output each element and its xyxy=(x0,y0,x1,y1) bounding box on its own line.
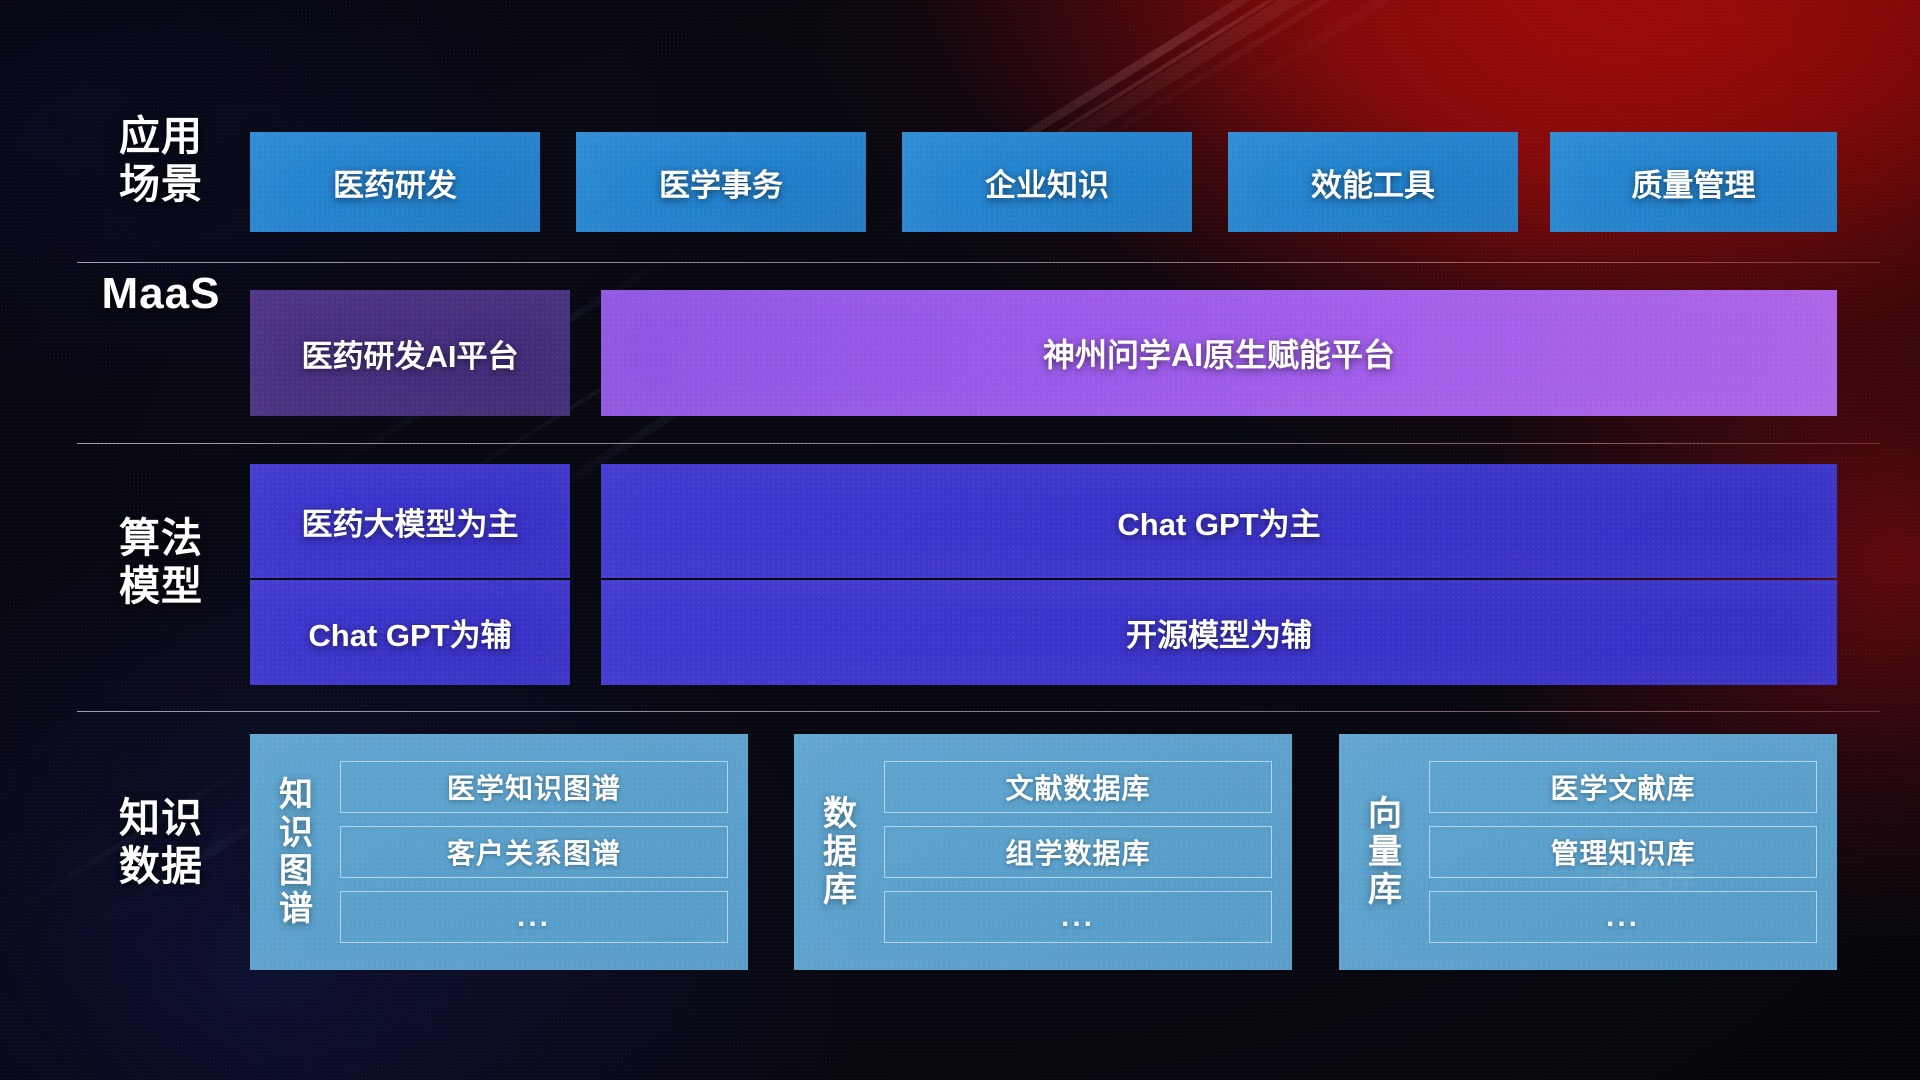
knowledge-item[interactable]: 组学数据库 xyxy=(884,826,1272,878)
knowledge-panel-knowledge-graph[interactable]: 知 识 图 谱 医学知识图谱 客户关系图谱 ... xyxy=(250,734,748,970)
row-label-application: 应用 场景 xyxy=(77,113,245,209)
knowledge-item[interactable]: 医学文献库 xyxy=(1429,761,1817,813)
row-label-algorithm: 算法 模型 xyxy=(77,515,245,611)
knowledge-panel-items: 文献数据库 组学数据库 ... xyxy=(884,761,1272,943)
row-label-line: 数据 xyxy=(77,843,245,891)
knowledge-panel-title: 向 量 库 xyxy=(1357,795,1413,909)
algo-box-label: Chat GPT为主 xyxy=(1117,499,1320,544)
app-box-label: 效能工具 xyxy=(1311,160,1435,205)
knowledge-item[interactable]: 文献数据库 xyxy=(884,761,1272,813)
maas-box-label: 医药研发AI平台 xyxy=(302,331,519,376)
knowledge-panel-database[interactable]: 数 据 库 文献数据库 组学数据库 ... xyxy=(794,734,1292,970)
row-label-line: 知识 xyxy=(77,795,245,843)
title-char: 库 xyxy=(1368,871,1402,909)
app-box-quality-management[interactable]: 质量管理 xyxy=(1550,132,1837,232)
title-char: 知 xyxy=(279,776,313,814)
app-box-enterprise-knowledge[interactable]: 企业知识 xyxy=(902,132,1192,232)
knowledge-item[interactable]: 管理知识库 xyxy=(1429,826,1817,878)
app-box-efficiency-tools[interactable]: 效能工具 xyxy=(1228,132,1518,232)
title-char: 向 xyxy=(1368,795,1402,833)
knowledge-item[interactable]: 客户关系图谱 xyxy=(340,826,728,878)
knowledge-item-more[interactable]: ... xyxy=(884,891,1272,943)
app-box-label: 医学事务 xyxy=(659,160,783,205)
knowledge-item[interactable]: 医学知识图谱 xyxy=(340,761,728,813)
row-label-line: 应用 xyxy=(77,113,245,161)
algo-box-label: 开源模型为辅 xyxy=(1126,610,1312,655)
row-label-line: 模型 xyxy=(77,563,245,611)
row-divider-3 xyxy=(77,711,1880,712)
title-char: 图 xyxy=(279,852,313,890)
title-char: 谱 xyxy=(279,890,313,928)
knowledge-item-more[interactable]: ... xyxy=(1429,891,1817,943)
diagram-canvas: 应用 场景 医药研发 医学事务 企业知识 效能工具 质量管理 MaaS 医药研发… xyxy=(0,0,1920,1080)
knowledge-panel-items: 医学文献库 管理知识库 ... xyxy=(1429,761,1817,943)
title-char: 据 xyxy=(823,833,857,871)
row-divider-2 xyxy=(77,443,1880,444)
row-label-line: 场景 xyxy=(77,161,245,209)
row-label-line: 算法 xyxy=(77,515,245,563)
row-label-knowledge: 知识 数据 xyxy=(77,795,245,891)
maas-box-pharma-ai-platform[interactable]: 医药研发AI平台 xyxy=(250,290,570,416)
knowledge-panel-title: 数 据 库 xyxy=(812,795,868,909)
app-box-label: 质量管理 xyxy=(1632,160,1756,205)
maas-box-label: 神州问学AI原生赋能平台 xyxy=(1043,330,1395,376)
app-box-pharma-rd[interactable]: 医药研发 xyxy=(250,132,540,232)
algo-box-label: Chat GPT为辅 xyxy=(308,610,511,655)
title-char: 库 xyxy=(823,871,857,909)
algo-box-label: 医药大模型为主 xyxy=(302,499,519,544)
row-divider-1 xyxy=(77,262,1880,263)
knowledge-panel-title: 知 识 图 谱 xyxy=(268,776,324,928)
knowledge-panel-items: 医学知识图谱 客户关系图谱 ... xyxy=(340,761,728,943)
app-box-label: 医药研发 xyxy=(333,160,457,205)
algo-box-chatgpt-secondary[interactable]: Chat GPT为辅 xyxy=(250,580,570,685)
algo-box-pharma-llm-primary[interactable]: 医药大模型为主 xyxy=(250,464,570,578)
row-label-line: MaaS xyxy=(77,268,245,319)
title-char: 量 xyxy=(1368,833,1402,871)
algo-box-chatgpt-primary[interactable]: Chat GPT为主 xyxy=(601,464,1837,578)
knowledge-item-more[interactable]: ... xyxy=(340,891,728,943)
row-label-maas: MaaS xyxy=(77,268,245,319)
maas-box-shenzhou-wenxue-platform[interactable]: 神州问学AI原生赋能平台 xyxy=(601,290,1837,416)
title-char: 数 xyxy=(823,795,857,833)
app-box-medical-affairs[interactable]: 医学事务 xyxy=(576,132,866,232)
title-char: 识 xyxy=(279,814,313,852)
knowledge-panel-vector-store[interactable]: 向量库 向 量 库 医学文献库 管理知识库 ... xyxy=(1339,734,1837,970)
algo-box-opensource-secondary[interactable]: 开源模型为辅 xyxy=(601,580,1837,685)
app-box-label: 企业知识 xyxy=(985,160,1109,205)
